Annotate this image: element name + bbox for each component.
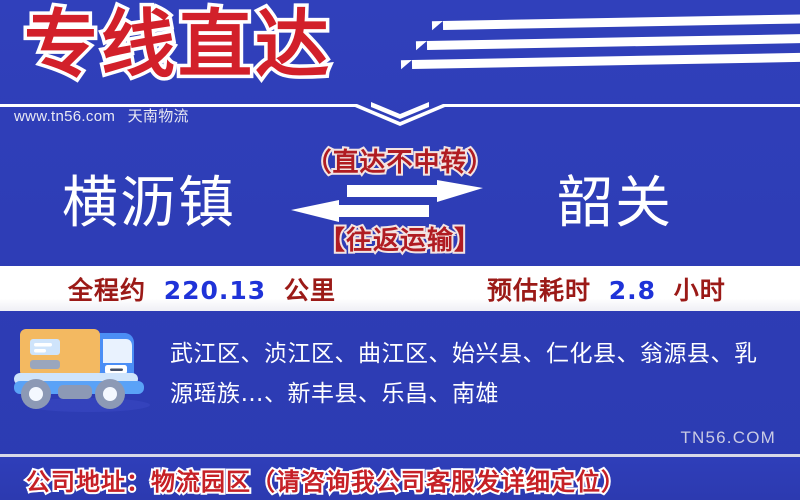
route-note-top: （直达不中转） <box>305 142 494 179</box>
destination-city-label: 韶关 <box>557 158 673 239</box>
distance-metric: 全程约 220.13 公里 <box>68 271 336 307</box>
distance-label: 全程约 <box>68 276 146 305</box>
company-name-text: 天南物流 <box>128 108 189 125</box>
watermark-label: TN56.COM <box>680 428 776 448</box>
duration-value: 2.8 <box>609 276 656 305</box>
diagonal-stripe-icon <box>427 34 800 50</box>
bidirectional-arrow-icon <box>287 180 487 224</box>
duration-unit: 小时 <box>674 276 726 305</box>
page-title: 专线直达 <box>24 2 332 89</box>
diagonal-stripe-icon <box>443 14 800 30</box>
site-url-label: www.tn56.com 天南物流 <box>14 105 189 126</box>
duration-label: 预估耗时 <box>487 276 591 305</box>
origin-city-label: 横沥镇 <box>62 158 236 239</box>
metrics-bar: 全程约 220.13 公里 预估耗时 2.8 小时 <box>0 266 800 311</box>
coverage-area-list: 武江区、浈江区、曲江区、始兴县、仁化县、翁源县、乳 源瑶族…、新丰县、乐昌、南雄 <box>170 335 790 414</box>
distance-value: 220.13 <box>164 276 266 305</box>
site-url-text: www.tn56.com <box>14 108 115 125</box>
coverage-line: 源瑶族…、新丰县、乐昌、南雄 <box>170 375 790 415</box>
duration-metric: 预估耗时 2.8 小时 <box>487 271 726 307</box>
diagonal-stripe-icon <box>412 53 800 69</box>
coverage-line: 武江区、浈江区、曲江区、始兴县、仁化县、翁源县、乳 <box>170 335 790 375</box>
distance-unit: 公里 <box>284 276 336 305</box>
logistics-route-banner: 专线直达 www.tn56.com 天南物流 横沥镇 （直达不中转） 【往返运输… <box>0 0 800 500</box>
delivery-truck-icon <box>6 315 166 415</box>
route-note-bottom: 【往返运输】 <box>319 220 481 257</box>
company-address-label: 公司地址：物流园区（请咨询我公司客服发详细定位） <box>26 462 626 497</box>
